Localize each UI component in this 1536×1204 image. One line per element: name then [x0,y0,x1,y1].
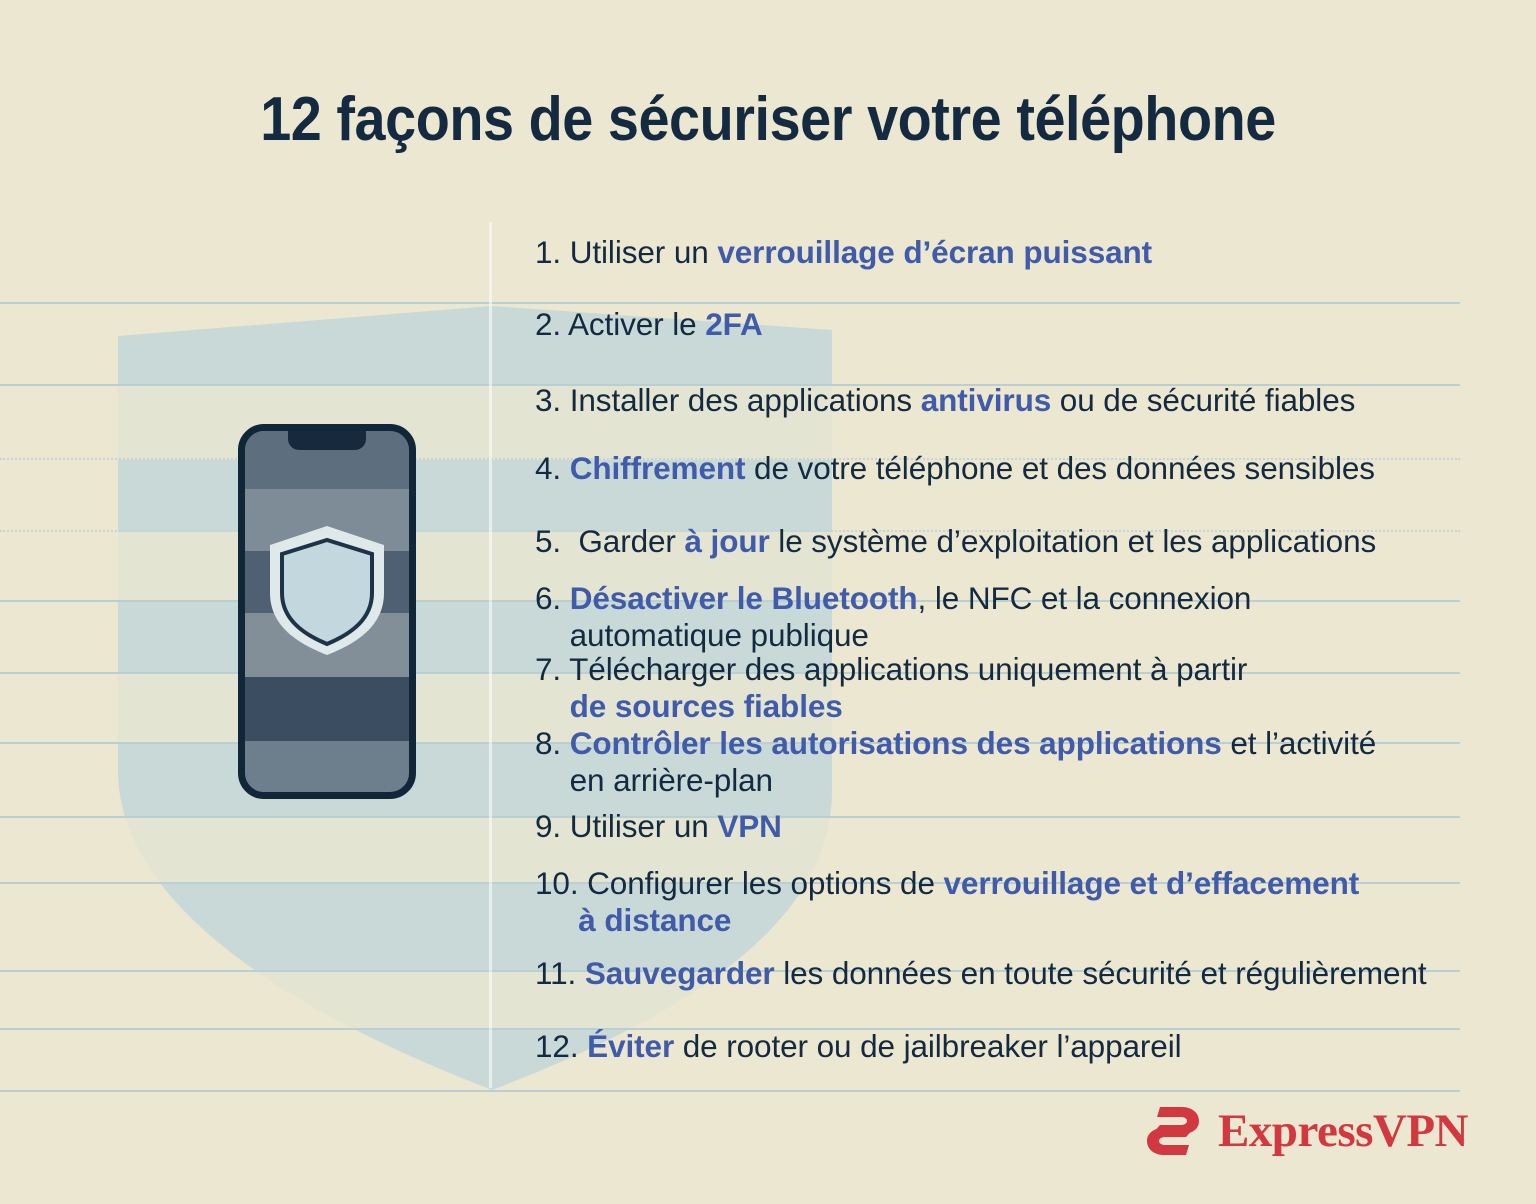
tip-row-9: 9. Utiliser un VPN [535,808,1495,845]
tip-row-3: 3. Installer des applications antivirus … [535,382,1495,419]
tip-highlight: Désactiver le Bluetooth [570,580,918,616]
tip-row-5: 5. Garder à jour le système d’exploitati… [535,523,1495,560]
tip-text [561,450,570,486]
tip-text: le système d’exploitation et les applica… [770,523,1376,559]
tip-row-10: 10. Configurer les options de verrouilla… [535,865,1495,939]
tip-text: les données en toute sécurité et réguliè… [775,955,1427,991]
tip-highlight: antivirus [921,382,1051,418]
brand-wordmark: ExpressVPN [1218,1108,1468,1155]
tip-text: Utiliser un [561,234,717,270]
tip-text: Configurer les options de [579,865,944,901]
tip-row-7: 7. Télécharger des applications uniqueme… [535,651,1495,725]
tip-highlight: 2FA [705,306,762,342]
tip-row-12: 12. Éviter de rooter ou de jailbreaker l… [535,1028,1495,1065]
tip-row-1: 1. Utiliser un verrouillage d’écran puis… [535,234,1495,271]
tip-text: Activer le [561,306,705,342]
tip-number: 4. [535,450,561,486]
tip-number: 5. [535,523,561,559]
tip-number: 3. [535,382,561,418]
tip-highlight: Sauvegarder [585,955,775,991]
tip-row-11: 11. Sauvegarder les données en toute séc… [535,955,1495,992]
expressvpn-logo[interactable]: ExpressVPN [1142,1100,1468,1162]
tip-number: 9. [535,808,561,844]
tip-number: 2. [535,306,561,342]
tip-highlight: Chiffrement [570,450,746,486]
tip-highlight: Éviter [587,1028,674,1064]
tip-text [561,725,570,761]
tip-text: Garder [561,523,684,559]
tip-number: 12. [535,1028,579,1064]
tip-highlight: VPN [717,808,781,844]
tip-text: de rooter ou de jailbreaker l’appareil [674,1028,1181,1064]
tips-list: 1. Utiliser un verrouillage d’écran puis… [0,0,1536,1204]
tip-number: 11. [535,955,576,991]
tip-highlight: de sources fiables [570,688,843,724]
tip-text [579,1028,588,1064]
phone-notch [288,431,366,450]
shield-icon-on-screen [266,523,388,658]
tip-row-4: 4. Chiffrement de votre téléphone et des… [535,450,1495,487]
tip-row-8: 8. Contrôler les autorisations des appli… [535,725,1495,799]
tip-text [576,955,585,991]
expressvpn-e-logo [1142,1100,1204,1162]
tip-number: 1. [535,234,561,270]
tip-highlight: Contrôler les autorisations des applicat… [570,725,1222,761]
tip-row-2: 2. Activer le 2FA [535,306,1495,343]
tip-text: de votre téléphone et des données sensib… [745,450,1375,486]
infographic-canvas: 12 façons de sécuriser votre téléphone 1… [0,0,1536,1204]
tip-number: 8. [535,725,561,761]
tip-highlight: à jour [684,523,769,559]
tip-text: Installer des applications [561,382,921,418]
tip-highlight: verrouillage d’écran puissant [717,234,1152,270]
tip-text [561,580,570,616]
tip-text: Utiliser un [561,808,717,844]
tip-number: 10. [535,865,579,901]
tip-text: ou de sécurité fiables [1051,382,1355,418]
tip-number: 6. [535,580,561,616]
tip-number: 7. [535,651,561,687]
tip-row-6: 6. Désactiver le Bluetooth, le NFC et la… [535,580,1495,654]
